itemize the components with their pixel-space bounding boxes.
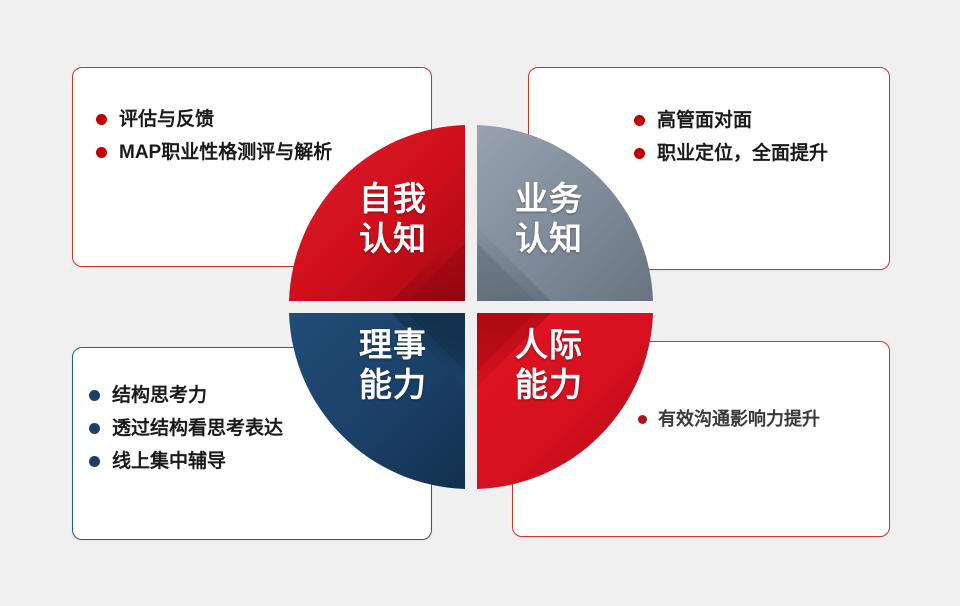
diagram-canvas: 评估与反馈 MAP职业性格测评与解析 高管面对面 职业定位，全面提升 结构思考力… <box>0 0 960 606</box>
bullet-list-interpersonal-ability: 有效沟通影响力提升 <box>638 404 820 434</box>
list-item-label: 结构思考力 <box>112 379 207 412</box>
bullet-dot-icon <box>89 423 100 434</box>
list-item-label: 有效沟通影响力提升 <box>658 404 820 434</box>
quadrant-interpersonal-ability <box>477 313 653 489</box>
list-item-label: 透过结构看思考表达 <box>112 412 283 445</box>
quadrant-wheel: 自我 认知 业务 认知 理事 能力 人际 能力 <box>287 123 655 491</box>
list-item: 有效沟通影响力提升 <box>638 404 820 434</box>
list-item-label: 评估与反馈 <box>119 103 214 136</box>
list-item: 透过结构看思考表达 <box>89 412 283 445</box>
list-item: 高管面对面 <box>634 104 828 137</box>
list-item-label: 线上集中辅导 <box>112 445 226 478</box>
quadrant-self-awareness <box>289 125 465 301</box>
bullet-dot-icon <box>89 390 100 401</box>
quadrant-business-awareness <box>477 125 653 301</box>
bullet-list-business-awareness: 高管面对面 职业定位，全面提升 <box>634 104 828 170</box>
list-item: 线上集中辅导 <box>89 445 283 478</box>
list-item: 职业定位，全面提升 <box>634 137 828 170</box>
list-item-label: 高管面对面 <box>657 104 752 137</box>
bullet-list-management-ability: 结构思考力 透过结构看思考表达 线上集中辅导 <box>89 379 283 478</box>
quadrant-management-ability <box>289 313 465 489</box>
bullet-dot-icon <box>96 147 107 158</box>
list-item: 结构思考力 <box>89 379 283 412</box>
bullet-dot-icon <box>96 114 107 125</box>
list-item-label: 职业定位，全面提升 <box>657 137 828 170</box>
bullet-dot-icon <box>89 456 100 467</box>
